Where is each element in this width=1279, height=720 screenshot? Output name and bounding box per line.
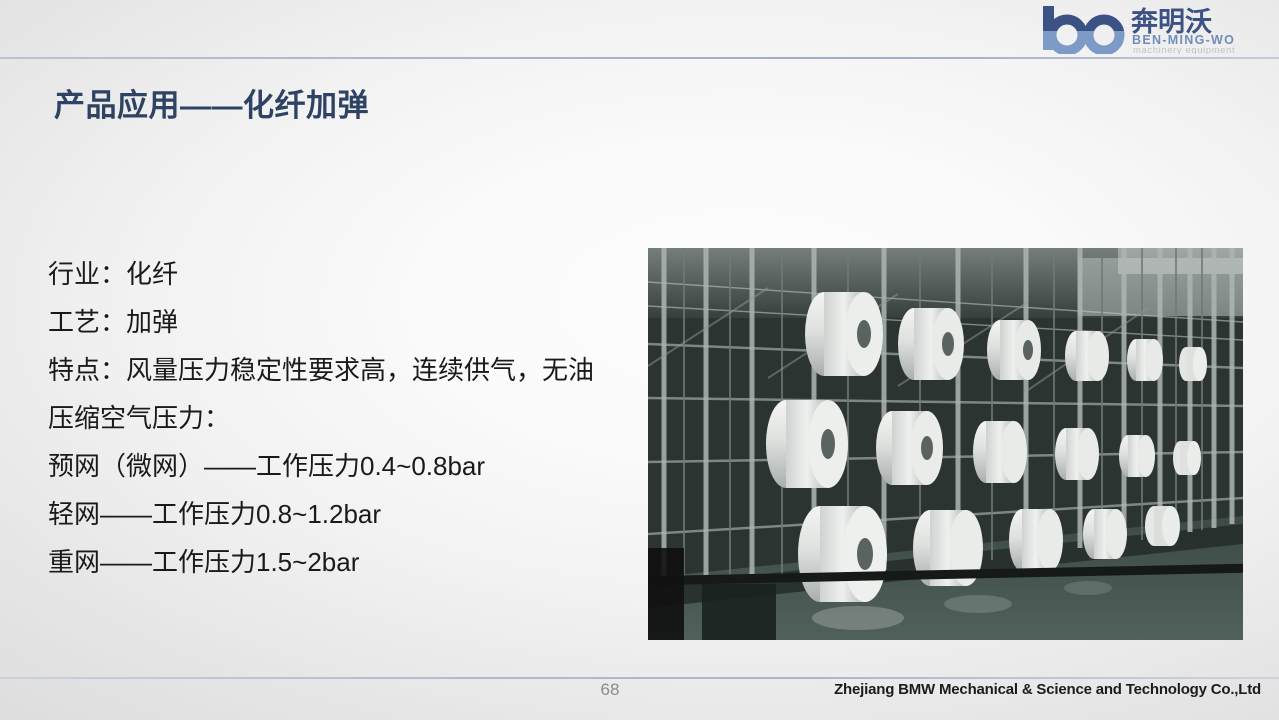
page-title: 产品应用——化纤加弹	[54, 80, 369, 125]
body-line-heavy-network: 重网——工作压力1.5~2bar	[48, 538, 618, 586]
body-line-light-network: 轻网——工作压力0.8~1.2bar	[48, 490, 618, 538]
footer-divider	[0, 677, 1279, 679]
logo-tagline: machinery equipment	[1133, 45, 1235, 54]
body-line-process: 工艺：加弹	[48, 298, 618, 346]
factory-photo	[648, 248, 1243, 640]
body-line-industry: 行业：化纤	[48, 250, 618, 298]
header-divider	[0, 57, 1279, 59]
footer-company-name: Zhejiang BMW Mechanical & Science and Te…	[834, 681, 1261, 698]
body-line-pre-network: 预网（微网）——工作压力0.4~0.8bar	[48, 442, 618, 490]
slide: 奔明沃 BEN-MING-WO machinery equipment 产品应用…	[0, 0, 1279, 720]
company-logo: 奔明沃 BEN-MING-WO machinery equipment	[1035, 4, 1263, 54]
body-text-block: 行业：化纤 工艺：加弹 特点：风量压力稳定性要求高，连续供气，无油 压缩空气压力…	[48, 250, 618, 586]
body-line-features: 特点：风量压力稳定性要求高，连续供气，无油	[48, 346, 618, 394]
page-number: 68	[582, 680, 638, 700]
body-line-pressure-heading: 压缩空气压力：	[48, 394, 618, 442]
